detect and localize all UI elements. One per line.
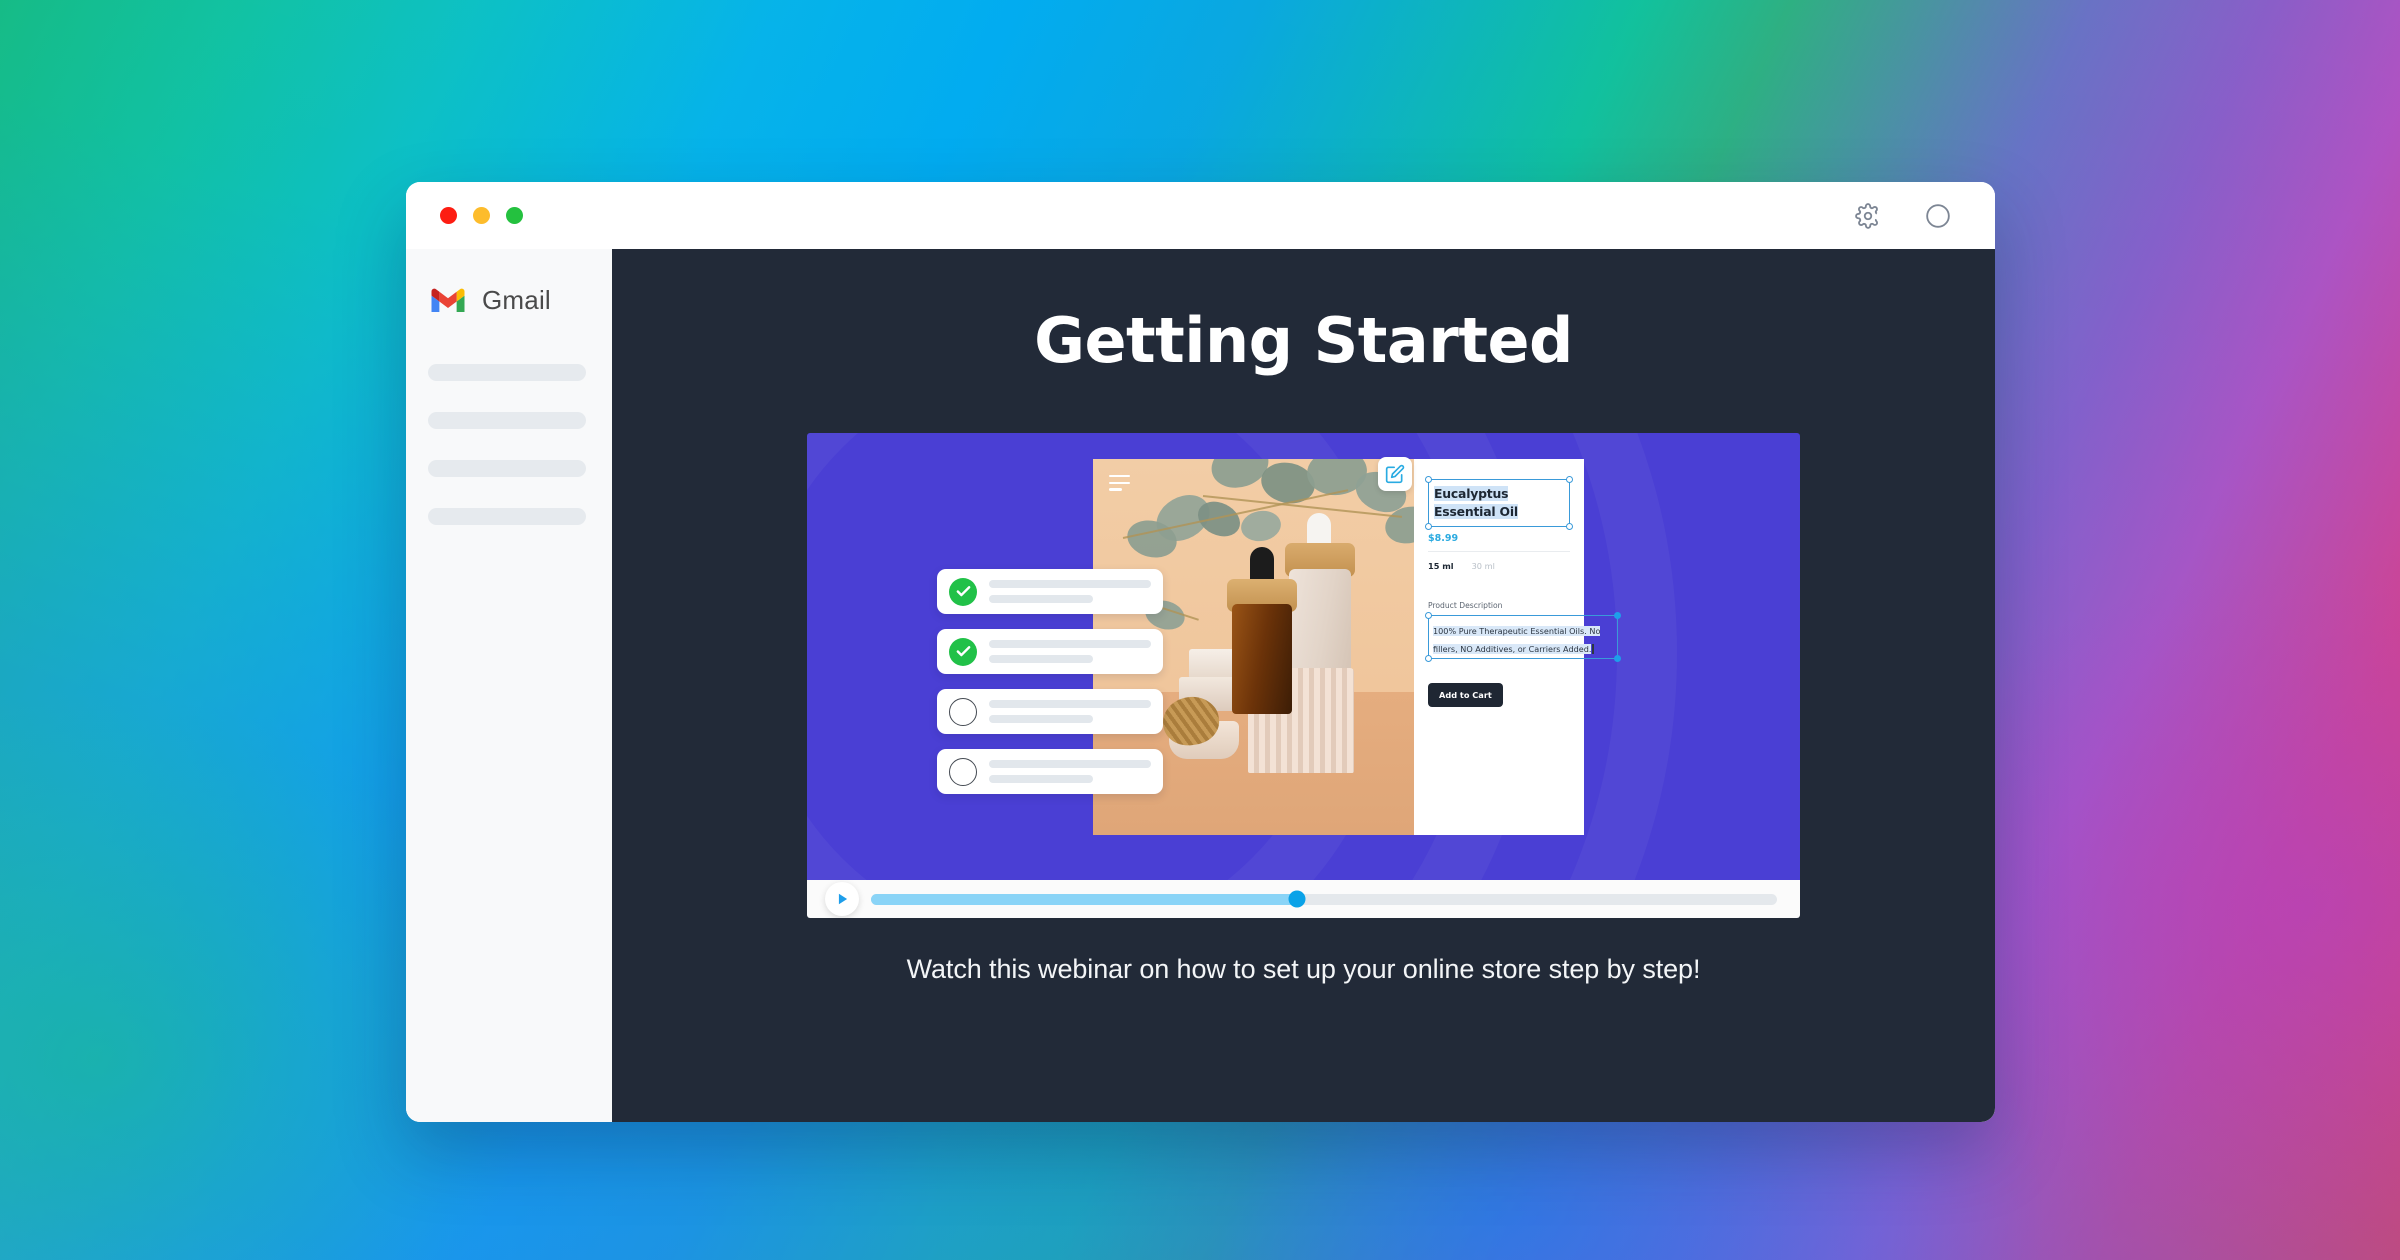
close-window-button[interactable] bbox=[440, 207, 457, 224]
main-content: Getting Started bbox=[612, 249, 1995, 1122]
play-button[interactable] bbox=[825, 882, 859, 916]
checklist-item[interactable] bbox=[937, 629, 1163, 674]
play-icon bbox=[836, 892, 850, 906]
sidebar-item-placeholder[interactable] bbox=[428, 364, 586, 381]
resize-handle-bottom-left[interactable] bbox=[1425, 655, 1432, 662]
video-stage[interactable]: Eucalyptus Essential Oil $8.99 15 ml 30 … bbox=[807, 433, 1800, 880]
resize-handle-bottom-left[interactable] bbox=[1425, 523, 1432, 530]
app-body: Gmail Getting Started bbox=[406, 249, 1995, 1122]
video-player[interactable]: Eucalyptus Essential Oil $8.99 15 ml 30 … bbox=[807, 433, 1800, 918]
sidebar-item-placeholder[interactable] bbox=[428, 460, 586, 477]
titlebar-actions bbox=[1855, 203, 1951, 229]
sidebar: Gmail bbox=[406, 249, 612, 1122]
checklist-item[interactable] bbox=[937, 569, 1163, 614]
brand-label: Gmail bbox=[482, 285, 551, 316]
check-circle-empty-icon bbox=[949, 758, 977, 786]
product-description-label: Product Description bbox=[1428, 601, 1570, 610]
progress-knob[interactable] bbox=[1288, 891, 1305, 908]
product-variants: 15 ml 30 ml bbox=[1428, 561, 1570, 571]
check-circle-filled-icon bbox=[949, 578, 977, 606]
traffic-lights bbox=[440, 207, 523, 224]
gear-icon[interactable] bbox=[1855, 203, 1881, 229]
checklist bbox=[937, 569, 1163, 809]
product-title: Eucalyptus Essential Oil bbox=[1434, 486, 1518, 519]
check-circle-filled-icon bbox=[949, 638, 977, 666]
video-controls bbox=[807, 880, 1800, 918]
checklist-item-text-placeholder bbox=[989, 700, 1151, 723]
sidebar-nav-placeholders bbox=[406, 364, 612, 525]
window-titlebar bbox=[406, 182, 1995, 249]
resize-handle-top-left[interactable] bbox=[1425, 612, 1432, 619]
variant-option-30ml[interactable]: 30 ml bbox=[1472, 561, 1495, 571]
progress-scrubber[interactable] bbox=[871, 894, 1777, 905]
edit-pencil-icon[interactable] bbox=[1378, 457, 1412, 491]
resize-handle-top-right[interactable] bbox=[1614, 612, 1621, 619]
amber-bottle bbox=[1232, 604, 1292, 714]
brand[interactable]: Gmail bbox=[406, 269, 612, 331]
minimize-window-button[interactable] bbox=[473, 207, 490, 224]
progress-fill bbox=[871, 894, 1297, 905]
text-caret bbox=[1592, 644, 1593, 654]
checklist-item-text-placeholder bbox=[989, 640, 1151, 663]
checklist-item[interactable] bbox=[937, 749, 1163, 794]
gmail-logo-icon bbox=[428, 285, 468, 315]
product-description-text: 100% Pure Therapeutic Essential Oils. No… bbox=[1433, 626, 1600, 654]
avatar[interactable] bbox=[1925, 203, 1951, 229]
checklist-item[interactable] bbox=[937, 689, 1163, 734]
checklist-item-text-placeholder bbox=[989, 760, 1151, 783]
browser-window: Gmail Getting Started bbox=[406, 182, 1995, 1122]
product-description-selection[interactable]: 100% Pure Therapeutic Essential Oils. No… bbox=[1428, 615, 1618, 659]
maximize-window-button[interactable] bbox=[506, 207, 523, 224]
variant-option-15ml[interactable]: 15 ml bbox=[1428, 561, 1454, 571]
resize-handle-top-right[interactable] bbox=[1566, 476, 1573, 483]
product-detail-panel: Eucalyptus Essential Oil $8.99 15 ml 30 … bbox=[1414, 459, 1584, 835]
check-circle-empty-icon bbox=[949, 698, 977, 726]
resize-handle-top-left[interactable] bbox=[1425, 476, 1432, 483]
checklist-item-text-placeholder bbox=[989, 580, 1151, 603]
divider bbox=[1428, 551, 1570, 552]
page-title: Getting Started bbox=[612, 304, 1995, 377]
add-to-cart-button[interactable]: Add to Cart bbox=[1428, 683, 1503, 707]
hamburger-menu-icon[interactable] bbox=[1109, 475, 1130, 491]
product-title-selection[interactable]: Eucalyptus Essential Oil bbox=[1428, 479, 1570, 527]
resize-handle-bottom-right[interactable] bbox=[1566, 523, 1573, 530]
sidebar-item-placeholder[interactable] bbox=[428, 508, 586, 525]
resize-handle-bottom-right[interactable] bbox=[1614, 655, 1621, 662]
sidebar-item-placeholder[interactable] bbox=[428, 412, 586, 429]
product-price: $8.99 bbox=[1428, 533, 1570, 544]
video-caption: Watch this webinar on how to set up your… bbox=[612, 954, 1995, 985]
